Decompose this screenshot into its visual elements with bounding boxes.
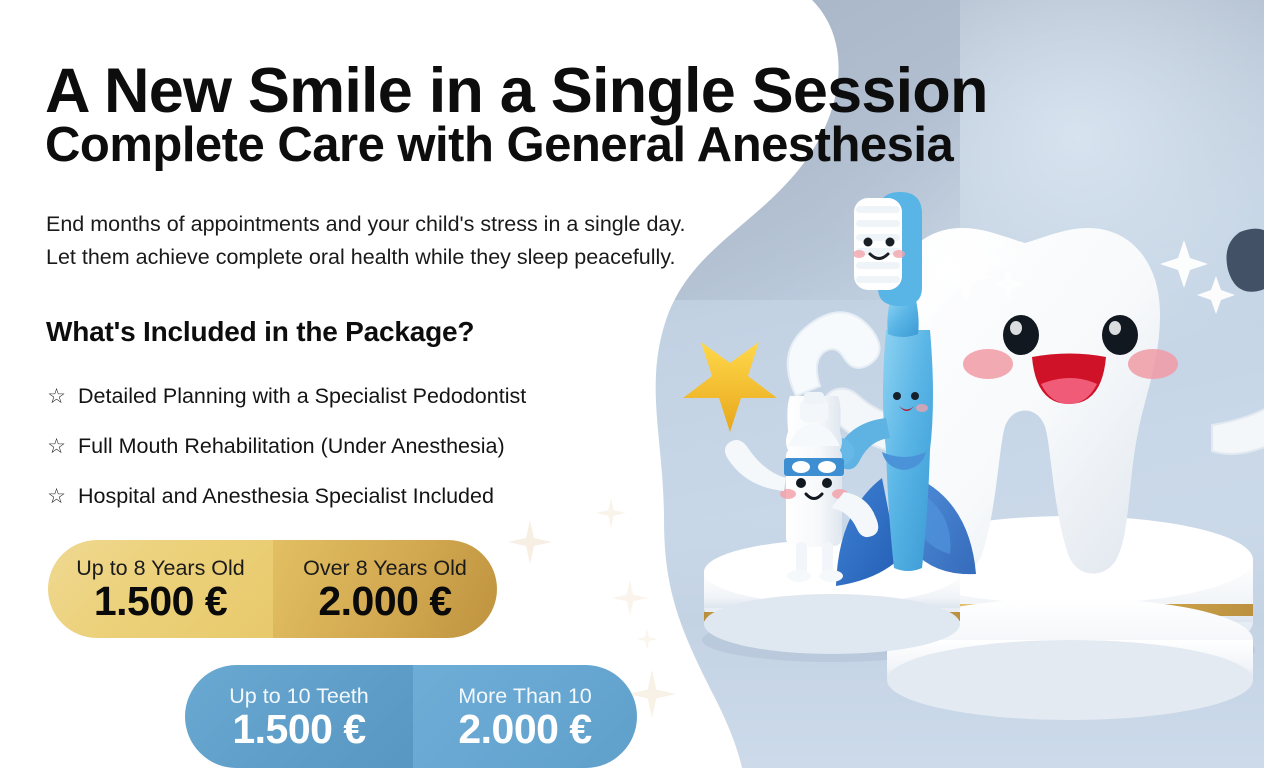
- cropped-dark-object: [1227, 229, 1264, 292]
- subcopy-block: End months of appointments and your chil…: [46, 208, 686, 274]
- price-option-more-than-10-teeth: More Than 10 2.000 €: [413, 665, 637, 768]
- subcopy-line-2: Let them achieve complete oral health wh…: [46, 241, 686, 274]
- list-item-label: Full Mouth Rehabilitation (Under Anesthe…: [78, 434, 505, 459]
- list-item: ☆ Hospital and Anesthesia Specialist Inc…: [46, 471, 526, 521]
- price-option-up-to-10-teeth: Up to 10 Teeth 1.500 €: [185, 665, 413, 768]
- list-item-label: Detailed Planning with a Specialist Pedo…: [78, 384, 526, 409]
- price-value: 1.500 €: [94, 578, 227, 625]
- yellow-star-wand: [683, 342, 777, 432]
- sparkle-watermark: [508, 520, 552, 564]
- price-pill-teeth-count: Up to 10 Teeth 1.500 € More Than 10 2.00…: [185, 665, 637, 768]
- headline-primary: A New Smile in a Single Session: [45, 58, 988, 124]
- price-pill-age: Up to 8 Years Old 1.500 € Over 8 Years O…: [48, 540, 497, 638]
- list-item-label: Hospital and Anesthesia Specialist Inclu…: [78, 484, 494, 509]
- price-option-over-8-years: Over 8 Years Old 2.000 €: [273, 540, 497, 638]
- price-value: 1.500 €: [232, 706, 365, 753]
- subcopy-line-1: End months of appointments and your chil…: [46, 208, 686, 241]
- price-value: 2.000 €: [318, 578, 451, 625]
- list-item: ☆ Full Mouth Rehabilitation (Under Anest…: [46, 421, 526, 471]
- promo-banner: A New Smile in a Single Session Complete…: [0, 0, 1264, 768]
- star-outline-icon: ☆: [46, 436, 67, 457]
- star-outline-icon: ☆: [46, 386, 67, 407]
- star-outline-icon: ☆: [46, 486, 67, 507]
- price-option-up-to-8-years: Up to 8 Years Old 1.500 €: [48, 540, 273, 638]
- price-value: 2.000 €: [458, 706, 591, 753]
- package-section-title: What's Included in the Package?: [46, 316, 474, 348]
- headline-secondary: Complete Care with General Anesthesia: [45, 120, 953, 171]
- package-feature-list: ☆ Detailed Planning with a Specialist Pe…: [46, 371, 526, 521]
- list-item: ☆ Detailed Planning with a Specialist Pe…: [46, 371, 526, 421]
